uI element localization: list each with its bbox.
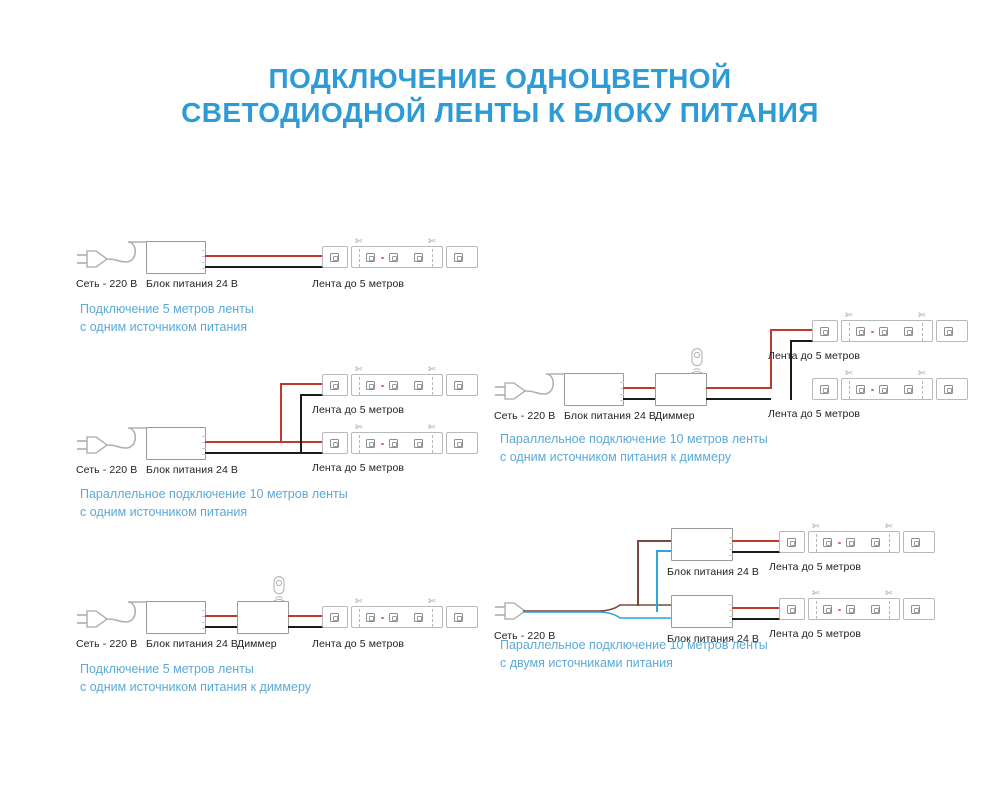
strip-label: Лента до 5 метров xyxy=(312,278,404,290)
wire-neutral-branch xyxy=(656,550,658,612)
led-strip: ✄ ✄ xyxy=(779,531,935,553)
psu-label: Блок питания 24 В xyxy=(564,410,656,422)
wire-positive xyxy=(732,607,780,609)
wire-live-top xyxy=(637,540,672,542)
remote-control-icon xyxy=(688,348,706,378)
power-supply-box xyxy=(146,427,206,460)
power-supply-box xyxy=(564,373,624,406)
wire-live-branch xyxy=(637,540,639,606)
wire-negative xyxy=(623,398,656,400)
psu-label: Блок питания 24 В xyxy=(146,278,238,290)
mains-label: Сеть - 220 В xyxy=(76,278,137,290)
diagram-caption: Параллельное подключение 10 метров ленты… xyxy=(500,636,860,672)
psu-label: Блок питания 24 В xyxy=(146,638,238,650)
wire-positive xyxy=(205,255,323,257)
mains-label: Сеть - 220 В xyxy=(76,638,137,650)
strip-label: Лента до 5 метров xyxy=(312,638,404,650)
strip-label: Лента до 5 метров xyxy=(312,462,404,474)
diagram-caption: Параллельное подключение 10 метров ленты… xyxy=(500,430,860,466)
wire-positive-top xyxy=(280,383,323,385)
power-supply-box xyxy=(671,528,733,561)
led-strip: ✄ ✄ xyxy=(779,598,935,620)
strip-label: Лента до 5 метров xyxy=(769,561,861,573)
strip-label: Лента до 5 метров xyxy=(768,350,860,362)
dimmer-label: Диммер xyxy=(237,638,277,650)
power-supply-box xyxy=(146,601,206,634)
wire-negative-branch xyxy=(790,340,792,400)
wire-negative xyxy=(205,266,323,268)
led-strip: ✄ ✄ xyxy=(322,374,478,396)
wiring-diagram-poster: ПОДКЛЮЧЕНИЕ ОДНОЦВЕТНОЙ СВЕТОДИОДНОЙ ЛЕН… xyxy=(0,0,1000,800)
wire-positive-top xyxy=(770,329,813,331)
psu-label: Блок питания 24 В xyxy=(146,464,238,476)
wire-positive-branch xyxy=(280,383,282,443)
wire-negative xyxy=(205,626,238,628)
wire-negative-top xyxy=(790,340,813,342)
mains-label: Сеть - 220 В xyxy=(494,410,555,422)
led-strip: ✄ ✄ xyxy=(812,378,968,400)
led-strip: ✄ ✄ xyxy=(322,246,478,268)
wire-positive-out xyxy=(288,615,323,617)
strip-label: Лента до 5 метров xyxy=(312,404,404,416)
wire-negative-branch xyxy=(300,394,302,454)
wire-negative-out xyxy=(706,398,771,400)
led-strip: ✄ ✄ xyxy=(812,320,968,342)
diagram-caption: Подключение 5 метров ленты с одним источ… xyxy=(80,300,410,336)
dimmer-label: Диммер xyxy=(655,410,695,422)
wire-negative xyxy=(732,551,780,553)
diagram-parallel-10m-two-psu: ✄ ✄ Лента до 5 метров Блок питания 24 В … xyxy=(0,0,500,180)
wire-negative-top xyxy=(300,394,323,396)
power-supply-box xyxy=(146,241,206,274)
wire-negative-out xyxy=(288,626,323,628)
wire-negative xyxy=(732,618,780,620)
led-strip: ✄ ✄ xyxy=(322,432,478,454)
diagram-caption: Подключение 5 метров ленты с одним источ… xyxy=(80,660,420,696)
power-supply-box xyxy=(671,595,733,628)
wire-positive xyxy=(732,540,780,542)
wire-negative xyxy=(205,452,323,454)
remote-control-icon xyxy=(270,576,288,606)
led-strip: ✄ ✄ xyxy=(322,606,478,628)
mains-label: Сеть - 220 В xyxy=(76,464,137,476)
psu-label: Блок питания 24 В xyxy=(667,566,759,578)
strip-label: Лента до 5 метров xyxy=(768,408,860,420)
wire-positive-out xyxy=(706,387,771,389)
diagram-caption: Параллельное подключение 10 метров ленты… xyxy=(80,485,440,521)
wire-positive xyxy=(623,387,656,389)
wire-neutral-top xyxy=(656,550,672,552)
wire-positive xyxy=(205,441,323,443)
wire-positive xyxy=(205,615,238,617)
